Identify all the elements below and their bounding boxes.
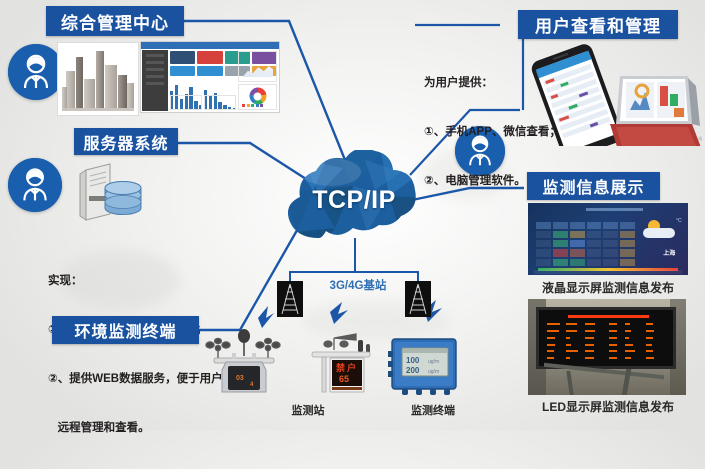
- cell-tower-left: [277, 281, 303, 317]
- database-icon: [105, 182, 141, 215]
- monitor-station-device-2: 禁 户 65: [300, 330, 380, 398]
- donut-legend: [242, 104, 263, 107]
- phone-tablet-image: [520, 38, 702, 146]
- caption-led-release-text: LED显示屏监测信息发布: [542, 400, 674, 414]
- left-desc-heading: 实现：: [48, 273, 223, 289]
- dashboard-footer-panels: [170, 95, 236, 110]
- bi-dashboard: [140, 41, 280, 113]
- banner-env-terminal[interactable]: 环境监测终端: [52, 316, 199, 344]
- monitor-station-device-1: 03 4: [196, 326, 294, 398]
- led-header-line: [568, 315, 648, 318]
- base-station-label: 3G/4G基站: [313, 277, 403, 293]
- cloud-label: TCP/IP: [283, 150, 425, 248]
- dashboard-topbar: [141, 42, 279, 49]
- caption-monitor-station: 监测站: [268, 402, 348, 418]
- caption-monitor-station-text: 监测站: [292, 405, 325, 417]
- banner-info-display-label: 监测信息展示: [542, 174, 644, 198]
- banner-server-system-label: 服务器系统: [83, 130, 168, 154]
- banner-user-view-label: 用户查看和管理: [535, 12, 661, 37]
- svg-text:ug/m: ug/m: [428, 369, 439, 375]
- lcd-table-row: [536, 231, 635, 238]
- banner-management-center[interactable]: 综合管理中心: [46, 6, 184, 36]
- caption-lcd-release-text: 液晶显示屏监测信息发布: [542, 281, 674, 295]
- banner-management-center-label: 综合管理中心: [61, 9, 169, 34]
- city-illustration: [57, 42, 139, 116]
- tcpip-cloud[interactable]: TCP/IP: [283, 150, 425, 248]
- svg-text:ug/m: ug/m: [428, 359, 439, 365]
- cell-tower-right: [405, 281, 431, 317]
- diagram-canvas: 综合管理中心: [0, 0, 705, 430]
- dashboard-screenshot: [140, 41, 280, 113]
- svg-text:户: 户: [347, 362, 356, 373]
- lcd-table-header-row: [536, 222, 635, 229]
- lcd-table-row: [536, 249, 635, 256]
- banner-env-terminal-label: 环境监测终端: [74, 318, 176, 342]
- dashboard-sidebar: [142, 50, 168, 111]
- lcd-data-table: [536, 222, 635, 262]
- donut-chart: [249, 88, 266, 105]
- caption-monitor-terminal: 监测终端: [388, 402, 478, 418]
- arrow-station2-uplink: [330, 302, 348, 324]
- lcd-city-name: 上海: [663, 248, 675, 257]
- banner-server-system[interactable]: 服务器系统: [74, 128, 178, 155]
- lcd-panel: °C 上海: [528, 203, 688, 275]
- led-board: [536, 307, 676, 369]
- lcd-weather-widget: °C: [640, 217, 682, 257]
- city-skyline-image: [57, 42, 139, 116]
- terminal-reading-2: 200: [406, 366, 420, 375]
- lcd-table-row: [536, 240, 635, 247]
- left-desc-line-3: 远程管理和查看。: [48, 420, 223, 436]
- caption-led-release: LED显示屏监测信息发布: [520, 398, 696, 415]
- station-reading-1: 03: [236, 375, 244, 382]
- led-display-image: [528, 299, 686, 395]
- person-icon-operator-2: [8, 158, 62, 212]
- caption-lcd-release: 液晶显示屏监测信息发布: [520, 279, 696, 296]
- person-icon: [8, 44, 64, 100]
- monitor-terminal-device: 100 200 ug/m ug/m: [386, 335, 464, 397]
- person-icon: [8, 158, 62, 212]
- dashboard-sparkline-panel: [238, 51, 277, 82]
- banner-user-view[interactable]: 用户查看和管理: [518, 10, 678, 39]
- svg-text:禁: 禁: [336, 362, 345, 373]
- person-icon-operator-1: [8, 44, 64, 100]
- lcd-table-row: [536, 259, 635, 266]
- server-database-icon: [76, 160, 144, 222]
- cloud-icon: [643, 228, 675, 238]
- lcd-display-image: °C 上海: [528, 203, 688, 275]
- caption-monitor-terminal-text: 监测终端: [411, 405, 455, 417]
- terminal-reading-1: 100: [406, 356, 420, 365]
- dashboard-donut-panel: [238, 84, 277, 110]
- banner-info-display[interactable]: 监测信息展示: [527, 172, 660, 200]
- station2-led-value: 65: [339, 374, 349, 384]
- arrow-station-uplink: [258, 306, 274, 328]
- base-station-label-text: 3G/4G基站: [330, 280, 387, 292]
